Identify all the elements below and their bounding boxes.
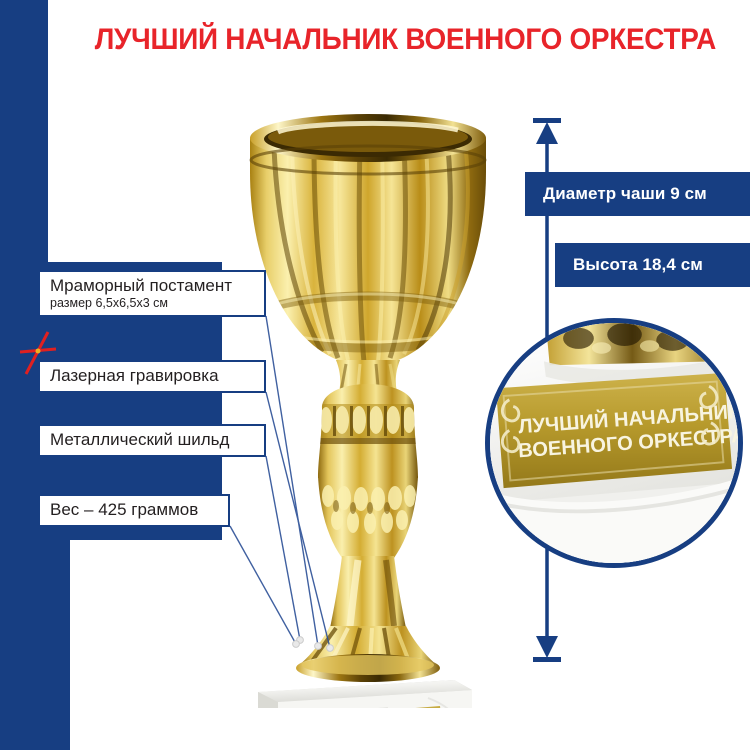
left-blue-bar-top: [0, 0, 48, 262]
trophy-image: ЛУЧШИЙ НАЧАЛЬНИК ВОЕННОГО ОРКЕСТРА: [218, 108, 518, 708]
dimension-label-text: Диаметр чаши 9 см: [543, 184, 707, 204]
infographic-page: ЛУЧШИЙ НАЧАЛЬНИК ВОЕННОГО ОРКЕСТРА: [0, 0, 750, 750]
feature-label-text: Вес – 425 граммов: [50, 500, 220, 520]
arrow-down-icon: [533, 636, 561, 662]
arrow-up-icon: [533, 118, 561, 144]
left-blue-bar-bottom: [0, 540, 70, 750]
feature-label-text: Металлический шильд: [50, 430, 256, 450]
feature-label-shield: Металлический шильд: [38, 424, 266, 457]
dimension-bar-height: Высота 18,4 см: [555, 243, 750, 287]
red-cross-mark-icon: [14, 330, 62, 378]
page-title: ЛУЧШИЙ НАЧАЛЬНИК ВОЕННОГО ОРКЕСТРА: [95, 22, 700, 58]
magnifier-circle: ЛУЧШИЙ НАЧАЛЬНИК ВОЕННОГО ОРКЕСТРА: [485, 318, 743, 568]
magnified-plaque-view: ЛУЧШИЙ НАЧАЛЬНИК ВОЕННОГО ОРКЕСТРА: [490, 323, 738, 563]
feature-label-engraving: Лазерная гравировка: [38, 360, 266, 393]
feature-sublabel-text: размер 6,5х6,5х3 см: [50, 296, 256, 310]
dimension-label-text: Высота 18,4 см: [573, 255, 703, 275]
feature-label-text: Мраморный постамент: [50, 276, 256, 296]
feature-label-weight: Вес – 425 граммов: [38, 494, 230, 527]
feature-label-pedestal: Мраморный постамент размер 6,5х6,5х3 см: [38, 270, 266, 317]
dimension-bar-diameter: Диаметр чаши 9 см: [525, 172, 750, 216]
feature-label-text: Лазерная гравировка: [50, 366, 256, 386]
